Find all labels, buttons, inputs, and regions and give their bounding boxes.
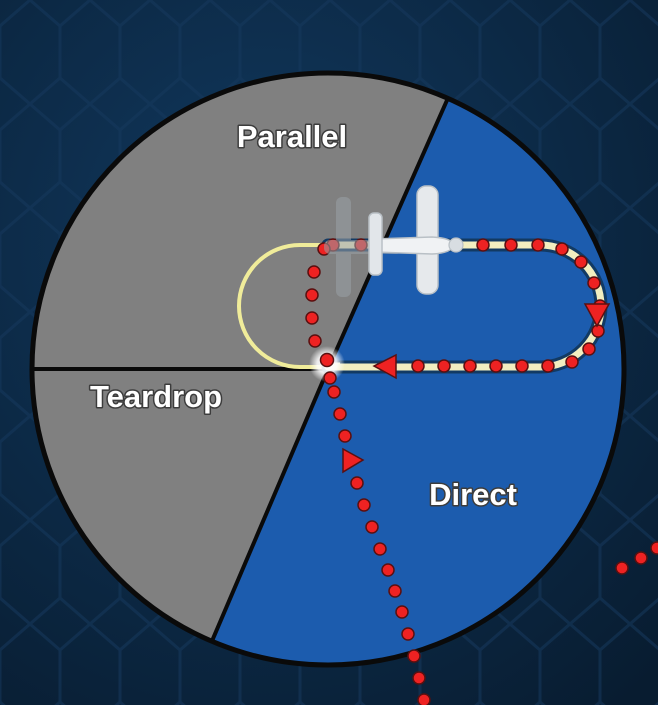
airplane-fuselage [371, 237, 455, 254]
holding-pattern-diagram: Parallel Teardrop Direct [0, 0, 658, 705]
holding-fix-dot-lower [324, 372, 336, 384]
diagram-canvas: Parallel Teardrop Direct [0, 0, 658, 705]
sector-label-parallel: Parallel [237, 119, 347, 154]
holding-fix-dot [321, 354, 334, 367]
airplane-nose [449, 238, 463, 252]
airplane-tailplane [369, 213, 382, 275]
sector-label-teardrop: Teardrop [90, 379, 222, 414]
sector-label-direct: Direct [429, 477, 517, 512]
